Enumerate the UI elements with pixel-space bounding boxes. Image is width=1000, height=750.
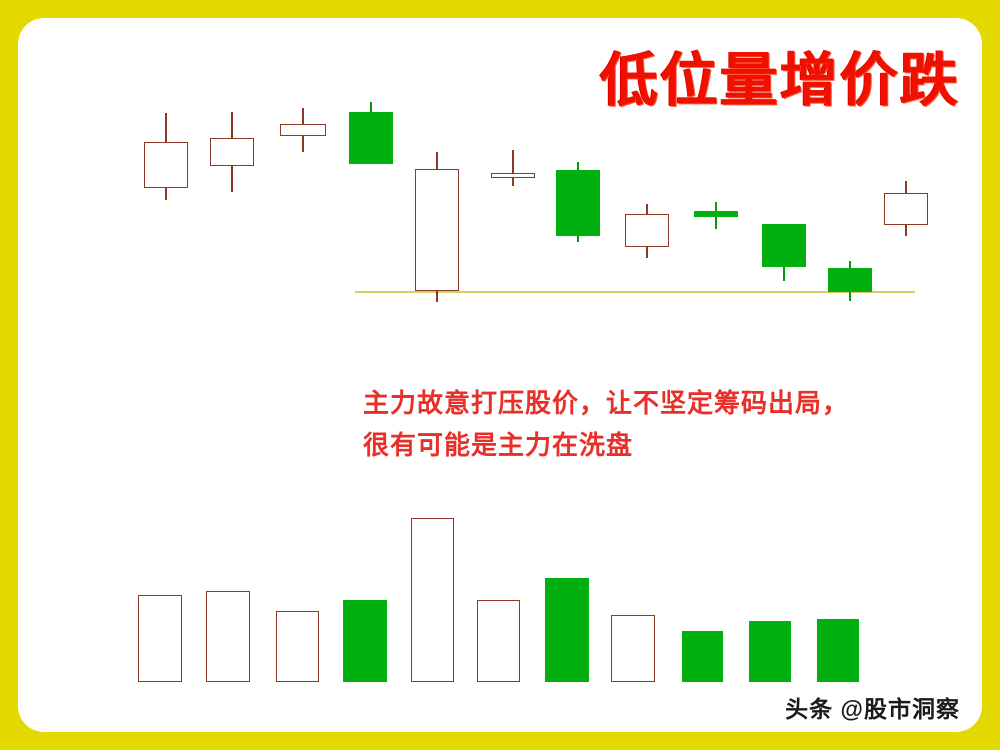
- volume-bar-body-5: [411, 518, 454, 682]
- candle-body-9: [694, 211, 738, 217]
- candle-wick-7: [577, 162, 579, 242]
- candle-body-2: [210, 138, 254, 166]
- candle-body-11: [828, 268, 872, 292]
- slide-frame: 低位量增价跌 主力故意打压股价，让不坚定筹码出局， 很有可能是主力在洗盘 头条 …: [0, 0, 1000, 750]
- candle-body-4: [349, 112, 393, 164]
- candle-wick-12: [905, 181, 907, 236]
- candle-body-6: [491, 173, 535, 178]
- annotation-line-1: 主力故意打压股价，让不坚定筹码出局，: [363, 382, 923, 424]
- volume-pane: [18, 18, 982, 732]
- candle-wick-1: [165, 113, 167, 200]
- volume-bar-body-4: [343, 600, 387, 682]
- candle-wick-4: [370, 102, 372, 164]
- support-line: [355, 291, 915, 293]
- watermark: 头条 @股市洞察: [785, 690, 960, 724]
- annotation-line-2: 很有可能是主力在洗盘: [363, 424, 923, 466]
- volume-bar-body-8: [611, 615, 655, 682]
- candle-body-3: [280, 124, 326, 136]
- candle-body-10: [762, 224, 806, 267]
- candle-body-7: [556, 170, 600, 236]
- annotation-text: 主力故意打压股价，让不坚定筹码出局， 很有可能是主力在洗盘: [363, 382, 923, 466]
- candle-body-12: [884, 193, 928, 225]
- slide-canvas: 低位量增价跌 主力故意打压股价，让不坚定筹码出局， 很有可能是主力在洗盘 头条 …: [18, 18, 982, 732]
- volume-bar-body-10: [749, 621, 791, 682]
- candlestick-price-pane: [18, 18, 982, 732]
- volume-bar-body-7: [545, 578, 589, 682]
- candle-body-5: [415, 169, 459, 291]
- candle-body-1: [144, 142, 188, 188]
- candle-wick-5: [436, 152, 438, 302]
- candle-wick-10: [783, 224, 785, 281]
- candle-wick-2: [231, 112, 233, 192]
- candle-wick-3: [302, 108, 304, 152]
- candle-wick-8: [646, 204, 648, 258]
- candle-wick-6: [512, 150, 514, 186]
- candle-wick-9: [715, 202, 717, 229]
- volume-bar-body-3: [276, 611, 319, 682]
- volume-bar-body-6: [477, 600, 520, 682]
- page-title: 低位量增价跌: [600, 52, 960, 110]
- candle-body-8: [625, 214, 669, 247]
- candle-wick-11: [849, 261, 851, 301]
- volume-bar-body-9: [682, 631, 723, 682]
- volume-bar-body-1: [138, 595, 182, 682]
- volume-bar-body-11: [817, 619, 859, 682]
- volume-bar-body-2: [206, 591, 250, 682]
